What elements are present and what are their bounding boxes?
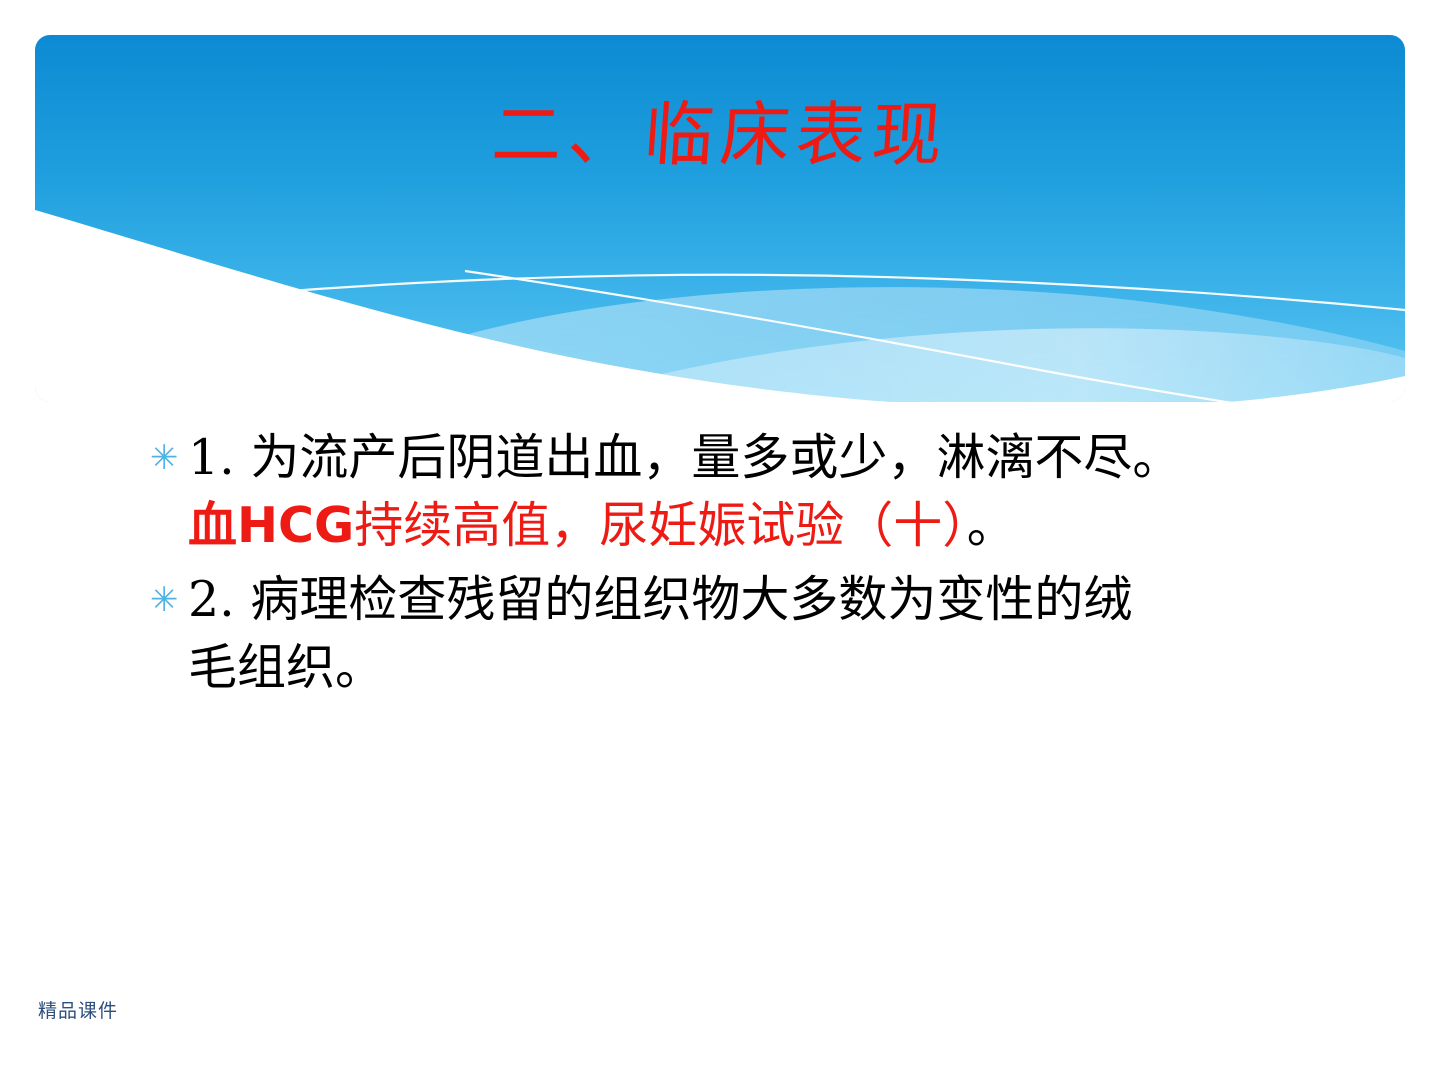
bullet-2-line-2: 毛组织。	[188, 634, 1330, 702]
bullet-1-red-prefix: 血	[188, 497, 237, 554]
bullet-1-black-tail: 。	[967, 497, 1016, 554]
list-item: ✳ 1. 为流产后阴道出血，量多或少，淋漓不尽。 血HCG持续高值，尿妊娠试验（…	[150, 424, 1330, 560]
list-item-text: 2. 病理检查残留的组织物大多数为变性的绒 毛组织。	[188, 566, 1330, 702]
header-banner	[35, 35, 1405, 402]
list-item: ✳ 2. 病理检查残留的组织物大多数为变性的绒 毛组织。	[150, 566, 1330, 702]
asterisk-bullet-icon: ✳	[150, 424, 188, 492]
asterisk-bullet-icon: ✳	[150, 566, 188, 634]
bullet-2-line-1: 2. 病理检查残留的组织物大多数为变性的绒	[188, 566, 1330, 634]
list-item-text: 1. 为流产后阴道出血，量多或少，淋漓不尽。 血HCG持续高值，尿妊娠试验（十）…	[188, 424, 1330, 560]
bullet-1-red-rest: 持续高值，尿妊娠试验（十）	[354, 497, 967, 554]
footer-watermark: 精品课件	[38, 996, 118, 1023]
slide-canvas: 二、临床表现 ✳ 1. 为流产后阴道出血，量多或少，淋漓不尽。 血HCG持续高值…	[0, 0, 1440, 1080]
bullet-1-red-acronym: HCG	[237, 497, 354, 554]
content-body: ✳ 1. 为流产后阴道出血，量多或少，淋漓不尽。 血HCG持续高值，尿妊娠试验（…	[150, 424, 1330, 708]
banner-artwork	[35, 35, 1405, 402]
bullet-1-line-1: 1. 为流产后阴道出血，量多或少，淋漓不尽。	[188, 424, 1330, 492]
bullet-1-line-2: 血HCG持续高值，尿妊娠试验（十）。	[188, 492, 1330, 560]
